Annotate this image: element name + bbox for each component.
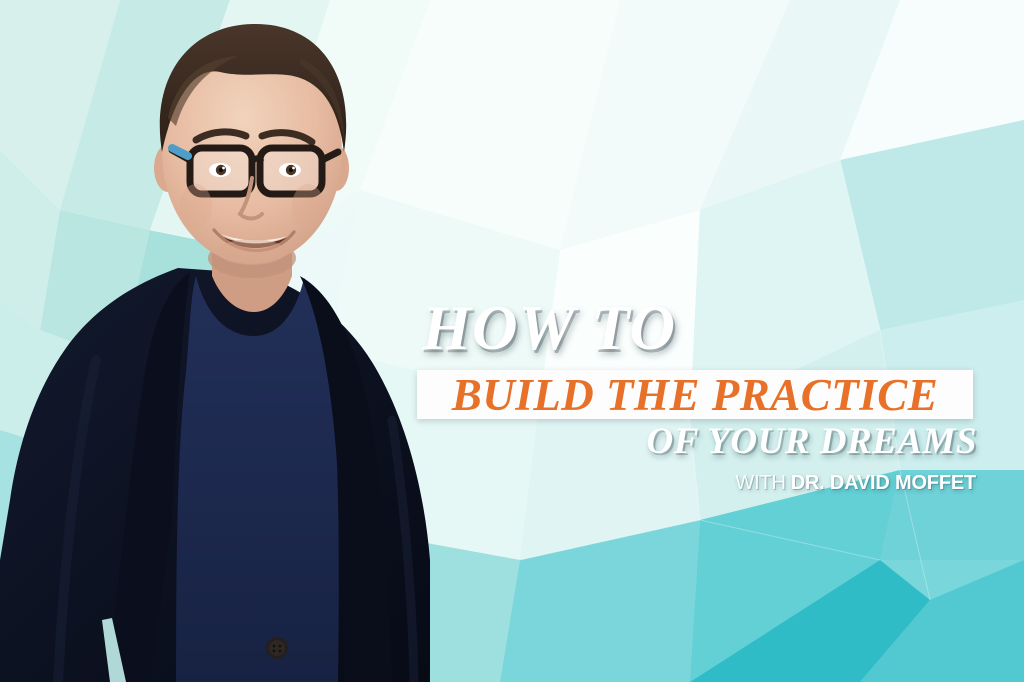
byline: WITHDR. DAVID MOFFET (735, 472, 976, 494)
byline-prefix: WITH (735, 472, 785, 494)
title-line-of-your-dreams: OF YOUR DREAMS (646, 422, 977, 462)
title-highlight-bar: BUILD THE PRACTICE (417, 370, 973, 419)
byline-presenter-name: DR. DAVID MOFFET (791, 472, 976, 494)
title-block: HOW TO BUILD THE PRACTICE OF YOUR DREAMS… (412, 296, 987, 506)
portrait-photo (0, 0, 470, 682)
episode-cover-poster: HOW TO BUILD THE PRACTICE OF YOUR DREAMS… (0, 0, 1024, 682)
title-line-how-to: HOW TO (422, 296, 676, 360)
title-line-build-the-practice: BUILD THE PRACTICE (417, 370, 973, 419)
